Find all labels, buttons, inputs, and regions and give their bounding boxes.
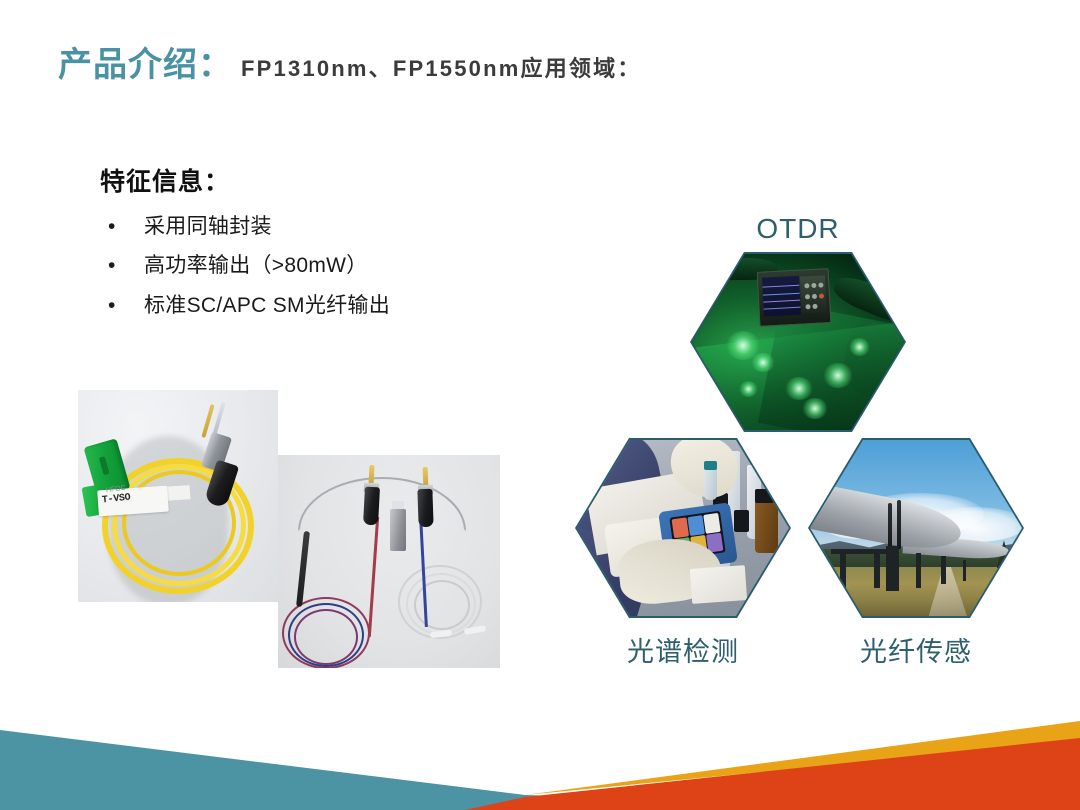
pipeline-vent	[897, 500, 901, 549]
page-title: 产品介绍： FP1310nm、FP1550nm应用领域：	[58, 48, 642, 82]
footer-ribbon	[0, 715, 1080, 810]
app-icon	[704, 513, 721, 534]
list-item: • 采用同轴封装	[100, 214, 530, 240]
laser-glow	[849, 338, 870, 356]
application-hex-otdr[interactable]	[690, 252, 906, 432]
pipeline-support	[941, 556, 945, 584]
fiber-pigtail-photo: HFOC T-VSO	[78, 390, 278, 602]
application-label-otdr: OTDR	[690, 213, 906, 245]
application-hex-image-otdr	[692, 254, 904, 430]
sample-vial-cap	[704, 461, 717, 470]
application-label-sensing: 光纤传感	[808, 630, 1024, 669]
sample-bag	[690, 565, 747, 604]
pipeline-support	[963, 560, 966, 581]
spruce-tree	[1011, 546, 1022, 569]
footer-ribbon-orange	[465, 738, 1080, 810]
bullet-icon: •	[100, 293, 144, 319]
footer-ribbon-gold	[525, 721, 1080, 795]
list-item: • 高功率输出（>80mW）	[100, 253, 530, 279]
laser-glow	[802, 398, 827, 419]
page-title-subtitle: FP1310nm、FP1550nm应用领域：	[241, 58, 642, 80]
footer-ribbon-teal	[0, 730, 1080, 810]
application-hex-spectrum[interactable]	[575, 438, 791, 618]
pipeline-support	[874, 549, 880, 588]
amber-bottle	[755, 500, 778, 553]
list-item-label: 标准SC/APC SM光纤输出	[144, 293, 390, 319]
oscilloscope	[756, 268, 831, 326]
oscilloscope-screen	[762, 276, 800, 317]
oscilloscope-controls	[800, 275, 827, 313]
bullet-icon: •	[100, 253, 144, 279]
laser-glow	[823, 363, 853, 388]
coaxial-diode-photo	[278, 455, 500, 668]
application-hex-sensing[interactable]	[808, 438, 1024, 618]
feature-info-heading: 特征信息：	[100, 162, 530, 198]
bottle-cap	[755, 489, 774, 503]
feature-info-block: 特征信息： • 采用同轴封装 • 高功率输出（>80mW） • 标准SC/APC…	[100, 162, 530, 332]
application-hex-image-spectrum	[577, 440, 789, 616]
pipeline-vent	[888, 503, 892, 549]
app-icon	[672, 517, 689, 538]
application-label-spectrum: 光谱检测	[575, 630, 791, 669]
laser-glow	[739, 381, 758, 397]
app-icon	[688, 515, 705, 536]
pipeline-crossbeam	[831, 549, 886, 554]
purple-fiber-loop	[294, 609, 358, 665]
page-title-main: 产品介绍：	[58, 48, 233, 82]
list-item: • 标准SC/APC SM光纤输出	[100, 293, 530, 319]
pipeline-support	[886, 546, 899, 592]
fc-connector	[390, 509, 406, 551]
vial-cap	[734, 510, 749, 531]
coaxial-package-body	[363, 487, 380, 526]
laser-glow	[785, 377, 813, 400]
pipeline-support	[916, 553, 921, 588]
laser-glow	[751, 353, 774, 372]
pipeline-support	[840, 549, 846, 591]
coaxial-package-body	[417, 489, 433, 528]
bullet-icon: •	[100, 214, 144, 240]
list-item-label: 采用同轴封装	[144, 214, 272, 240]
application-hex-image-sensing	[810, 440, 1022, 616]
list-item-label: 高功率输出（>80mW）	[144, 253, 368, 279]
slide-canvas: 产品介绍： FP1310nm、FP1550nm应用领域： 特征信息： • 采用同…	[0, 0, 1080, 810]
